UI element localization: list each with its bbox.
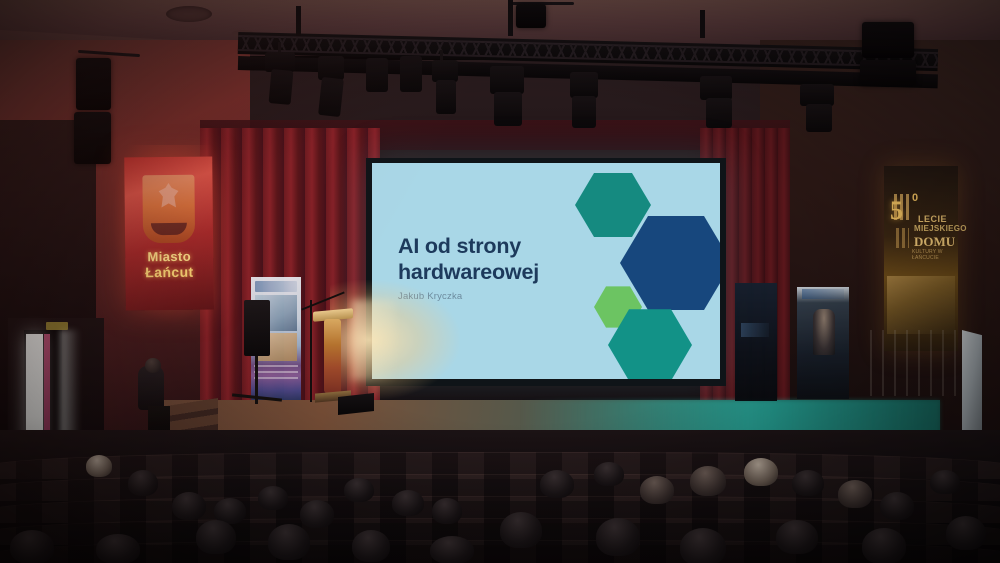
audience-head — [500, 512, 542, 548]
banner-right-line4: KULTURY W ŁAŃCUCIE — [912, 249, 958, 261]
audience-head — [594, 462, 624, 486]
audience-head — [10, 530, 54, 563]
truss-drop-post — [508, 0, 513, 36]
slide-subtitle: Jakub Kryczka — [398, 291, 462, 302]
line-array-speaker-right-top — [862, 22, 914, 58]
truss-drop-post — [700, 10, 705, 38]
audience-head — [258, 486, 288, 510]
exit-sign-icon — [46, 322, 68, 330]
stage-floor-teal-glow — [520, 400, 940, 434]
audience-head — [946, 516, 986, 550]
audience-head — [744, 458, 778, 486]
rollup-banner-logo — [255, 281, 297, 292]
rollup-banner-right-1-logo — [741, 323, 769, 337]
projection-screen: AI od strony hardwareowej Jakub Kryczka — [372, 163, 720, 379]
stage-light-barrel — [318, 77, 344, 117]
audience-head — [596, 518, 640, 556]
line-array-speaker-right-bottom — [860, 60, 916, 86]
balcony-railing — [860, 330, 965, 396]
ceiling-vent-icon — [166, 6, 212, 22]
stage-light-fixture — [570, 72, 598, 98]
stage-light-fixture — [700, 76, 732, 100]
audience-head — [680, 528, 726, 563]
banner-right-number: 5 — [890, 196, 903, 226]
line-array-speaker-left-bottom — [74, 112, 111, 164]
angel-figure-icon — [155, 183, 181, 217]
audience-head — [86, 455, 112, 477]
audience-head — [392, 490, 424, 516]
audience-head — [300, 500, 334, 528]
slide-title-line1: AI od strony — [398, 234, 521, 258]
stage-light-fixture — [400, 56, 422, 92]
banner-left-line1: Miasto — [125, 249, 213, 265]
audience-head — [172, 492, 206, 520]
audience-head — [540, 470, 574, 498]
stage-light-fixture — [318, 56, 344, 80]
audience-head — [128, 470, 158, 496]
seat-row — [0, 540, 1000, 563]
rollup-banner-right-2-logo — [802, 289, 844, 299]
banner-right-line3: DOMU — [914, 234, 955, 250]
audience-head — [690, 466, 726, 496]
audience-head — [96, 534, 140, 563]
pa-speaker — [244, 300, 270, 356]
audience-head — [838, 480, 872, 508]
stage-light-fixture — [366, 58, 388, 92]
banner-miasto-lancut: Miasto Łańcut — [124, 157, 214, 311]
boat-figure-icon — [151, 223, 187, 235]
banner-right-photo — [887, 276, 955, 334]
rollup-banner-text — [254, 365, 298, 381]
audience-head — [344, 478, 374, 502]
truss-drop-post — [296, 6, 301, 36]
audience-head — [862, 528, 906, 563]
podium-column — [324, 319, 341, 393]
audience-head — [880, 492, 914, 520]
banner-right-line1: LECIE — [918, 214, 947, 224]
line-array-speaker-left-top — [76, 58, 111, 110]
auditorium-photo: Miasto Łańcut 5 0 LECIE MIEJSKIEGO DOMU … — [0, 0, 1000, 563]
stage-light-barrel — [436, 80, 456, 114]
podium — [313, 310, 353, 402]
line-array-speaker-center — [516, 4, 546, 28]
stage-light-barrel — [269, 69, 294, 105]
rollup-banner-right-1 — [735, 283, 777, 401]
audience-head — [352, 530, 390, 562]
stage-light-barrel — [572, 96, 596, 128]
banner-right-line2: MIEJSKIEGO — [914, 224, 967, 233]
audience-head — [640, 476, 674, 504]
audience-head — [430, 536, 474, 563]
person-on-steps-head — [145, 358, 161, 373]
banner-right-bars-icon-2 — [896, 228, 909, 248]
audience-head — [268, 524, 310, 560]
stage-light-fixture — [432, 60, 458, 82]
coat-of-arms-icon — [142, 175, 195, 244]
slide-title: AI od strony hardwareowej — [398, 233, 598, 285]
banner-right-superscript: 0 — [912, 192, 918, 204]
stage-light-fixture — [490, 66, 524, 94]
rollup-banner-right-2 — [797, 287, 849, 399]
banner-50-lecie-mdk: 5 0 LECIE MIEJSKIEGO DOMU KULTURY W ŁAŃC… — [884, 166, 958, 351]
audience-head — [776, 520, 818, 554]
stage-light-barrel — [494, 92, 522, 126]
stage-light-barrel — [706, 98, 732, 128]
stage-light-fixture — [800, 84, 834, 106]
audience-head — [792, 470, 824, 496]
slide-title-line2: hardwareowej — [398, 260, 539, 284]
audience-head — [930, 470, 960, 494]
audience-head — [432, 498, 462, 524]
banner-left-line2: Łańcut — [125, 264, 213, 281]
hex-teal-top — [575, 171, 651, 239]
audience-head — [196, 520, 236, 554]
rollup-banner-right-2-portrait — [813, 309, 835, 355]
microphone-stand — [310, 300, 312, 402]
stage-light-barrel — [806, 104, 832, 132]
